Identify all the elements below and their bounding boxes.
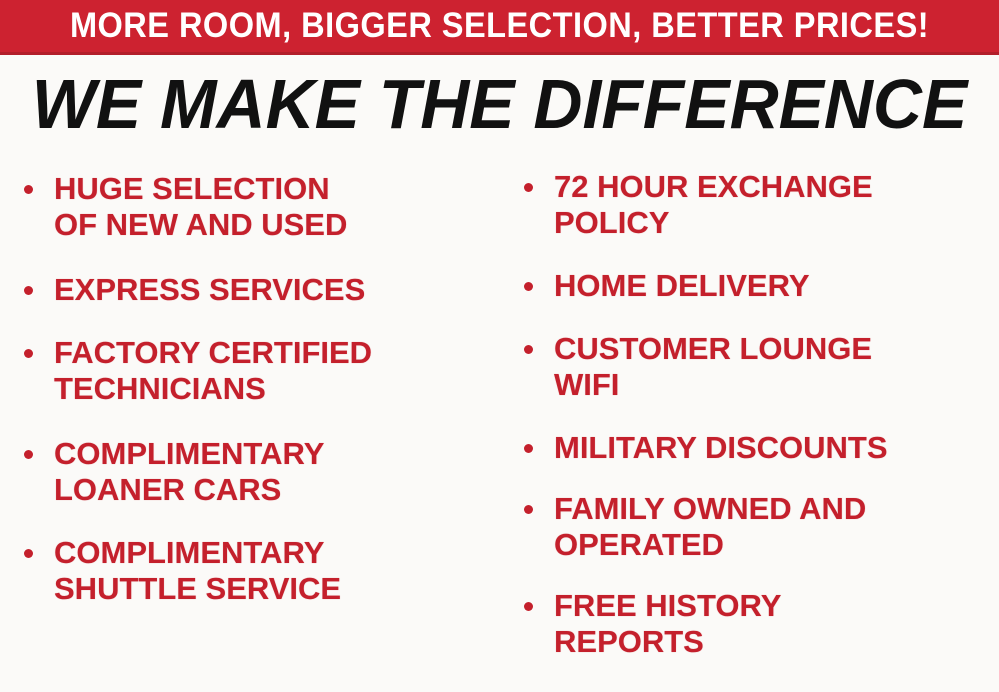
bullet-dot-icon (24, 549, 33, 558)
top-banner: MORE ROOM, BIGGER SELECTION, BETTER PRIC… (0, 0, 999, 55)
bullet-dot-icon (24, 349, 33, 358)
list-item: HUGE SELECTION OF NEW AND USED (14, 171, 494, 243)
banner-headline-text: MORE ROOM, BIGGER SELECTION, BETTER PRIC… (35, 0, 964, 52)
promotional-poster: MORE ROOM, BIGGER SELECTION, BETTER PRIC… (0, 0, 999, 692)
bullet-dot-icon (524, 602, 533, 611)
list-item: 72 HOUR EXCHANGE POLICY (514, 169, 994, 241)
list-item-label: HUGE SELECTION OF NEW AND USED (54, 171, 494, 243)
bullet-dot-icon (524, 444, 533, 453)
list-item: CUSTOMER LOUNGE WIFI (514, 331, 994, 403)
list-item-label: FREE HISTORY REPORTS (554, 588, 994, 660)
list-item-label: HOME DELIVERY (554, 268, 994, 304)
list-item: HOME DELIVERY (514, 268, 994, 304)
list-item: COMPLIMENTARY SHUTTLE SERVICE (14, 535, 494, 607)
list-item-label: FACTORY CERTIFIED TECHNICIANS (54, 335, 494, 407)
bullet-dot-icon (524, 505, 533, 514)
bullet-dot-icon (24, 450, 33, 459)
list-item: FAMILY OWNED AND OPERATED (514, 491, 994, 563)
list-item: EXPRESS SERVICES (14, 272, 494, 308)
benefits-column-right: 72 HOUR EXCHANGE POLICY HOME DELIVERY CU… (514, 160, 994, 692)
bullet-dot-icon (524, 282, 533, 291)
list-item: FACTORY CERTIFIED TECHNICIANS (14, 335, 494, 407)
list-item-label: MILITARY DISCOUNTS (554, 430, 994, 466)
bullet-dot-icon (524, 345, 533, 354)
list-item-label: COMPLIMENTARY SHUTTLE SERVICE (54, 535, 494, 607)
list-item-label: FAMILY OWNED AND OPERATED (554, 491, 994, 563)
bullet-dot-icon (524, 183, 533, 192)
list-item-label: 72 HOUR EXCHANGE POLICY (554, 169, 994, 241)
benefits-column-left: HUGE SELECTION OF NEW AND USED EXPRESS S… (14, 160, 494, 692)
list-item-label: COMPLIMENTARY LOANER CARS (54, 436, 494, 508)
list-item-label: CUSTOMER LOUNGE WIFI (554, 331, 994, 403)
list-item: COMPLIMENTARY LOANER CARS (14, 436, 494, 508)
bullet-dot-icon (24, 286, 33, 295)
bullet-dot-icon (24, 185, 33, 194)
list-item: FREE HISTORY REPORTS (514, 588, 994, 660)
list-item-label: EXPRESS SERVICES (54, 272, 494, 308)
page-title: WE MAKE THE DIFFERENCE (15, 68, 984, 140)
list-item: MILITARY DISCOUNTS (514, 430, 994, 466)
benefits-columns: HUGE SELECTION OF NEW AND USED EXPRESS S… (0, 160, 999, 692)
